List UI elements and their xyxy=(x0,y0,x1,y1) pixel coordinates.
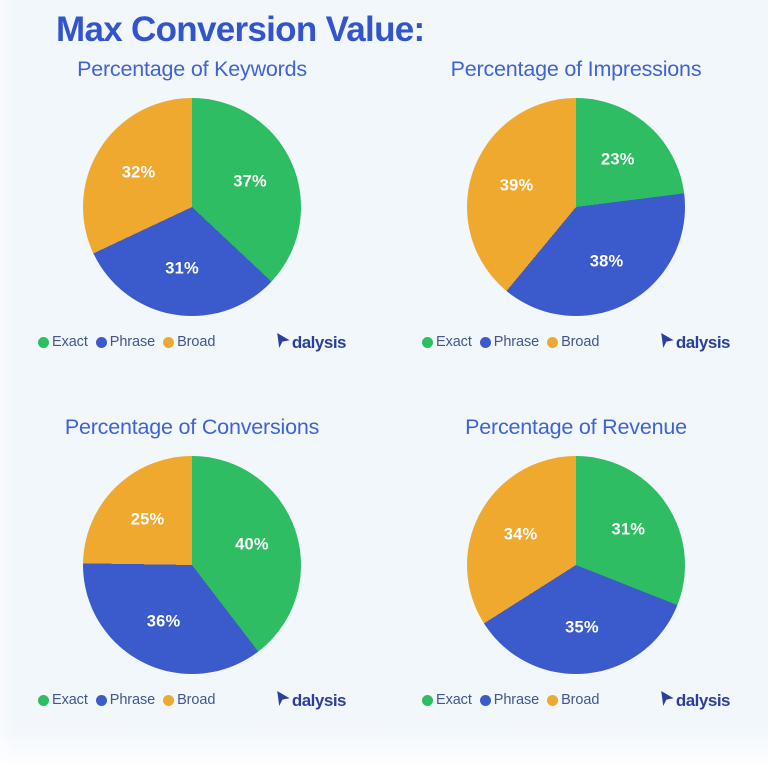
legend-dot-phrase-icon xyxy=(96,695,107,706)
legend-conversions: Exact Phrase Broad xyxy=(38,692,215,708)
pie-slice-label: 40% xyxy=(235,535,269,554)
legend-item-phrase[interactable]: Phrase xyxy=(480,334,539,350)
pie-wrap-revenue: 31%35%34% xyxy=(467,456,685,674)
legend-item-broad[interactable]: Broad xyxy=(163,334,215,350)
legend-bar-impressions: Exact Phrase Broad xyxy=(384,334,768,356)
adalysis-arrow-icon xyxy=(276,690,291,712)
adalysis-arrow-icon xyxy=(660,690,675,712)
legend-dot-broad-icon xyxy=(163,695,174,706)
legend-label-phrase: Phrase xyxy=(494,334,539,350)
pie-slice-label: 37% xyxy=(233,172,267,191)
legend-label-exact: Exact xyxy=(436,692,472,708)
legend-item-phrase[interactable]: Phrase xyxy=(96,692,155,708)
legend-dot-exact-icon xyxy=(422,337,433,348)
pie-wrap-keywords: 37%31%32% xyxy=(83,98,301,316)
adalysis-arrow-icon xyxy=(660,332,675,354)
legend-dot-phrase-icon xyxy=(96,337,107,348)
legend-item-exact[interactable]: Exact xyxy=(38,692,88,708)
legend-label-exact: Exact xyxy=(52,692,88,708)
legend-label-broad: Broad xyxy=(177,334,215,350)
pie-slice-label: 36% xyxy=(147,612,181,631)
legend-impressions: Exact Phrase Broad xyxy=(422,334,599,350)
chart-title-keywords: Percentage of Keywords xyxy=(0,55,384,83)
pie-chart-revenue xyxy=(467,456,685,674)
adalysis-logo: dalysis xyxy=(660,332,730,354)
pie-slice-label: 34% xyxy=(504,525,538,544)
chart-title-revenue: Percentage of Revenue xyxy=(384,413,768,441)
legend-label-exact: Exact xyxy=(436,334,472,350)
legend-item-broad[interactable]: Broad xyxy=(163,692,215,708)
pie-chart-grid: Percentage of Keywords 37%31%32% Exact P… xyxy=(0,55,768,714)
chart-row-bottom: Percentage of Conversions 40%36%25% Exac… xyxy=(0,413,768,714)
legend-label-phrase: Phrase xyxy=(110,692,155,708)
pie-wrap-impressions: 23%38%39% xyxy=(467,98,685,316)
legend-dot-exact-icon xyxy=(38,695,49,706)
legend-dot-broad-icon xyxy=(163,337,174,348)
legend-bar-conversions: Exact Phrase Broad xyxy=(0,692,384,714)
legend-item-broad[interactable]: Broad xyxy=(547,334,599,350)
pie-slice-label: 25% xyxy=(131,511,165,530)
legend-label-broad: Broad xyxy=(177,692,215,708)
pie-slice-label: 23% xyxy=(601,150,635,169)
pie-slice-label: 32% xyxy=(122,164,156,183)
chart-card-keywords: Percentage of Keywords 37%31%32% Exact P… xyxy=(0,55,384,356)
legend-item-exact[interactable]: Exact xyxy=(422,334,472,350)
legend-label-broad: Broad xyxy=(561,692,599,708)
legend-revenue: Exact Phrase Broad xyxy=(422,692,599,708)
chart-title-impressions: Percentage of Impressions xyxy=(384,55,768,83)
legend-item-phrase[interactable]: Phrase xyxy=(96,334,155,350)
adalysis-logo: dalysis xyxy=(660,690,730,712)
chart-card-impressions: Percentage of Impressions 23%38%39% Exac… xyxy=(384,55,768,356)
legend-label-phrase: Phrase xyxy=(110,334,155,350)
legend-label-exact: Exact xyxy=(52,334,88,350)
chart-card-conversions: Percentage of Conversions 40%36%25% Exac… xyxy=(0,413,384,714)
adalysis-logo: dalysis xyxy=(276,690,346,712)
page-title: Max Conversion Value: xyxy=(56,8,424,52)
legend-dot-phrase-icon xyxy=(480,695,491,706)
legend-item-phrase[interactable]: Phrase xyxy=(480,692,539,708)
chart-row-top: Percentage of Keywords 37%31%32% Exact P… xyxy=(0,55,768,356)
chart-title-conversions: Percentage of Conversions xyxy=(0,413,384,441)
adalysis-wordmark: dalysis xyxy=(292,334,346,352)
legend-item-broad[interactable]: Broad xyxy=(547,692,599,708)
legend-label-phrase: Phrase xyxy=(494,692,539,708)
legend-dot-broad-icon xyxy=(547,337,558,348)
chart-card-revenue: Percentage of Revenue 31%35%34% Exact Ph… xyxy=(384,413,768,714)
legend-bar-revenue: Exact Phrase Broad xyxy=(384,692,768,714)
bottom-edge-gradient xyxy=(0,727,768,763)
adalysis-wordmark: dalysis xyxy=(676,692,730,710)
adalysis-logo: dalysis xyxy=(276,332,346,354)
legend-dot-exact-icon xyxy=(422,695,433,706)
legend-dot-phrase-icon xyxy=(480,337,491,348)
legend-dot-exact-icon xyxy=(38,337,49,348)
pie-chart-conversions xyxy=(83,456,301,674)
pie-slice-label: 31% xyxy=(611,520,645,539)
legend-dot-broad-icon xyxy=(547,695,558,706)
pie-wrap-conversions: 40%36%25% xyxy=(83,456,301,674)
legend-keywords: Exact Phrase Broad xyxy=(38,334,215,350)
pie-slice-label: 39% xyxy=(500,176,534,195)
pie-chart-keywords xyxy=(83,98,301,316)
legend-label-broad: Broad xyxy=(561,334,599,350)
pie-slice-label: 35% xyxy=(565,618,599,637)
legend-item-exact[interactable]: Exact xyxy=(422,692,472,708)
legend-item-exact[interactable]: Exact xyxy=(38,334,88,350)
adalysis-arrow-icon xyxy=(276,332,291,354)
pie-slice-label: 38% xyxy=(590,253,624,272)
adalysis-wordmark: dalysis xyxy=(676,334,730,352)
pie-slice-label: 31% xyxy=(165,260,199,279)
pie-chart-impressions xyxy=(467,98,685,316)
adalysis-wordmark: dalysis xyxy=(292,692,346,710)
legend-bar-keywords: Exact Phrase Broad xyxy=(0,334,384,356)
